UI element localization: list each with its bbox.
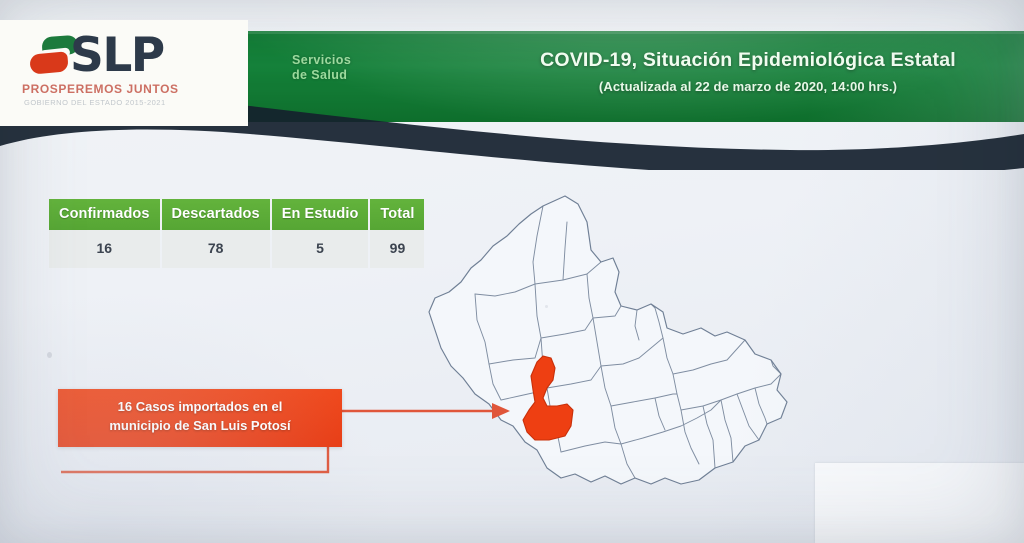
- table-header-row: Confirmados Descartados En Estudio Total: [49, 199, 424, 230]
- callout-line2: municipio de San Luis Potosí: [70, 417, 330, 436]
- logo-wordmark: SLP: [70, 28, 164, 83]
- blank-overlay-panel: [815, 463, 1024, 543]
- covid-stats-table: Confirmados Descartados En Estudio Total…: [47, 199, 426, 268]
- slp-logo: SLP PROSPEREMOS JUNTOS GOBIERNO DEL ESTA…: [0, 20, 248, 126]
- san-luis-potosi-map: [415, 188, 805, 508]
- header-title-block: COVID-19, Situación Epidemiológica Estat…: [488, 49, 1008, 94]
- header-band: Servicios de Salud COVID-19, Situación E…: [238, 31, 1024, 122]
- callout-line1: 16 Casos importados en el: [70, 398, 330, 417]
- logo-tagline: PROSPEREMOS JUNTOS: [22, 82, 179, 96]
- cell-descartados: 78: [162, 230, 270, 268]
- cell-en-estudio: 5: [272, 230, 369, 268]
- slide-canvas: Servicios de Salud COVID-19, Situación E…: [0, 0, 1024, 543]
- column-header-en-estudio: En Estudio: [272, 199, 369, 230]
- page-title: COVID-19, Situación Epidemiológica Estat…: [488, 49, 1008, 72]
- screenshot-canvas: Servicios de Salud COVID-19, Situación E…: [0, 0, 1024, 543]
- imported-cases-callout: 16 Casos importados en el municipio de S…: [58, 389, 342, 447]
- table-row: 16 78 5 99: [49, 230, 424, 268]
- column-header-descartados: Descartados: [162, 199, 270, 230]
- page-subtitle: (Actualizada al 22 de marzo de 2020, 14:…: [488, 79, 1008, 94]
- column-header-confirmados: Confirmados: [49, 199, 160, 230]
- dust-speck: [47, 352, 52, 358]
- logo-red-shape: [29, 51, 69, 74]
- dust-speck: [545, 305, 548, 308]
- health-services-label: Servicios de Salud: [292, 53, 351, 83]
- logo-subline: GOBIERNO DEL ESTADO 2015-2021: [24, 98, 166, 107]
- health-services-line2: de Salud: [292, 68, 351, 83]
- state-outline: [429, 196, 787, 484]
- health-services-line1: Servicios: [292, 53, 351, 67]
- cell-confirmados: 16: [49, 230, 160, 268]
